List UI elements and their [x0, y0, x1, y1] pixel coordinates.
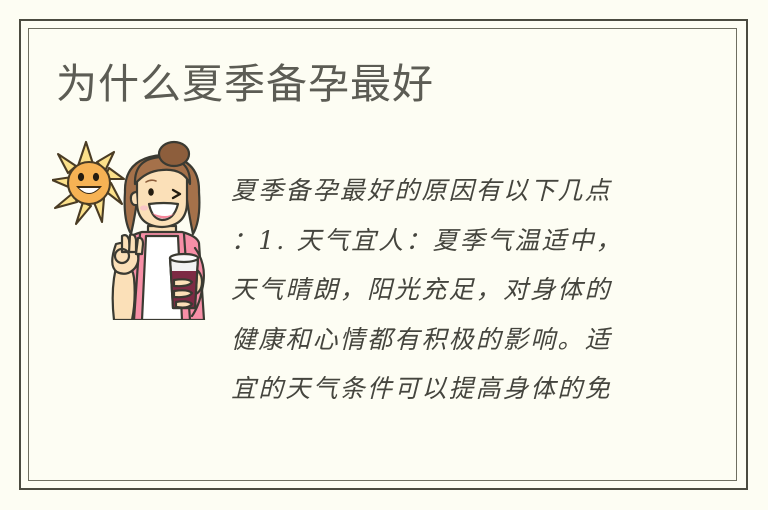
- right-hand-fingers: [174, 279, 192, 307]
- illustration-sun-and-woman: [52, 140, 232, 320]
- body-line: 夏季备孕最好的原因有以下几点: [231, 166, 661, 216]
- page-title: 为什么夏季备孕最好: [56, 60, 434, 108]
- smiling-sun-icon: [52, 142, 124, 224]
- article-card: 为什么夏季备孕最好: [0, 0, 768, 510]
- article-body: 夏季备孕最好的原因有以下几点 ：1. 天气宜人：夏季气温适中， 天气晴朗，阳光充…: [231, 166, 661, 414]
- body-line: 健康和心情都有积极的影响。适: [231, 315, 661, 365]
- body-line: 天气晴朗，阳光充足，对身体的: [231, 265, 661, 315]
- woman-drinking-illustration: [112, 142, 204, 320]
- body-line: ：1. 天气宜人：夏季气温适中，: [231, 216, 661, 266]
- body-line: 宜的天气条件可以提高身体的免: [231, 364, 661, 414]
